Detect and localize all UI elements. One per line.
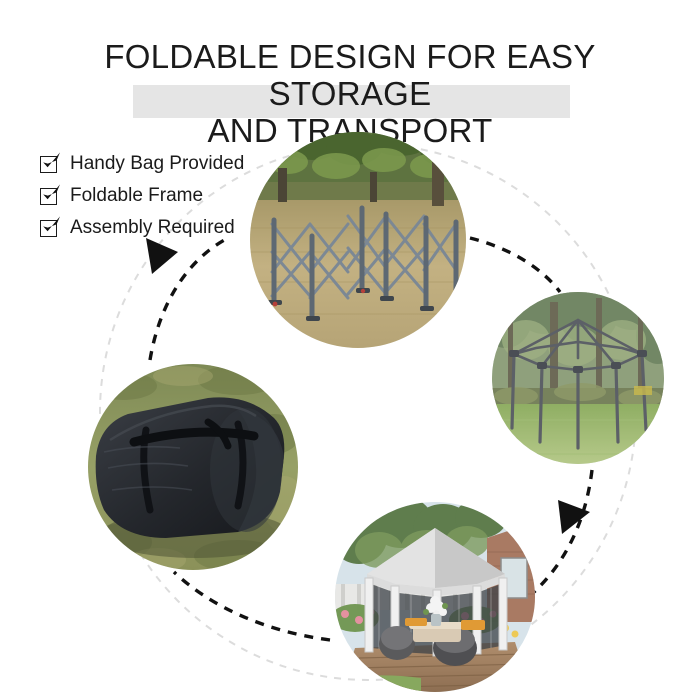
infographic-page: FOLDABLE DESIGN FOR EASY STORAGE AND TRA…: [0, 0, 700, 700]
photo-carry-bag: [88, 364, 298, 570]
feature-checklist: Handy Bag Provided Foldable Frame Assemb…: [40, 150, 244, 246]
arrow-path-folded-to-erect: [470, 238, 560, 292]
list-item: Foldable Frame: [40, 182, 244, 210]
list-item-label: Foldable Frame: [70, 185, 203, 207]
check-icon: [40, 188, 57, 205]
list-item: Assembly Required: [40, 214, 244, 242]
list-item-label: Assembly Required: [70, 217, 235, 239]
check-icon: [40, 156, 57, 173]
list-item-label: Handy Bag Provided: [70, 153, 244, 175]
photo-frame-folded: [250, 132, 466, 348]
photo-gazebo-setup: [335, 502, 535, 692]
photo-frame-erect: [492, 292, 664, 464]
arrow-path-setup-to-bag: [174, 572, 330, 640]
list-item: Handy Bag Provided: [40, 150, 244, 178]
check-icon: [40, 220, 57, 237]
